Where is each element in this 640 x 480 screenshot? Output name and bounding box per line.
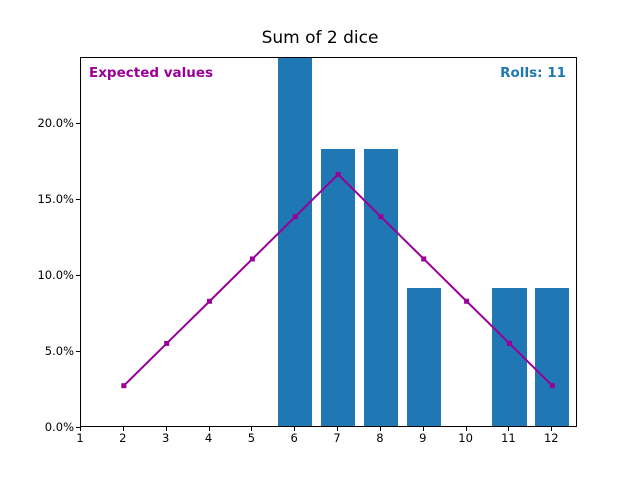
expected-values-line-series	[81, 58, 577, 427]
expected-values-marker	[250, 256, 255, 261]
x-axis-tick-mark	[80, 427, 81, 431]
expected-values-marker	[421, 256, 426, 261]
y-axis-tick-labels: 0.0%5.0%10.0%15.0%20.0%	[0, 0, 74, 480]
x-axis-tick-label: 9	[419, 431, 426, 445]
x-axis-tick-mark	[508, 427, 509, 431]
expected-values-marker	[507, 341, 512, 346]
x-axis-tick-mark	[209, 427, 210, 431]
x-axis-tick-mark	[123, 427, 124, 431]
x-axis-tick-mark	[166, 427, 167, 431]
x-axis-tick-label: 7	[333, 431, 340, 445]
x-axis-tick-mark	[251, 427, 252, 431]
matplotlib-figure: Sum of 2 dice 0.0%5.0%10.0%15.0%20.0% 12…	[0, 0, 640, 480]
page-title: Sum of 2 dice	[0, 28, 640, 48]
x-axis-tick-label: 2	[119, 431, 126, 445]
y-axis-tick-label: 5.0%	[45, 344, 74, 358]
x-axis-tick-label: 10	[458, 431, 473, 445]
y-axis-tick-label: 20.0%	[37, 116, 74, 130]
expected-values-marker	[207, 299, 212, 304]
x-axis-tick-mark	[380, 427, 381, 431]
expected-values-marker	[121, 383, 126, 388]
rolls-count-label: Rolls: 11	[500, 65, 566, 81]
y-axis-tick-label: 10.0%	[37, 268, 74, 282]
x-axis-tick-mark	[294, 427, 295, 431]
y-axis-tick-label: 15.0%	[37, 192, 74, 206]
x-axis-tick-label: 6	[291, 431, 298, 445]
x-axis-tick-mark	[423, 427, 424, 431]
y-axis-tick-label: 0.0%	[45, 420, 74, 434]
x-axis-tick-mark	[551, 427, 552, 431]
expected-values-marker	[336, 172, 341, 177]
x-axis-tick-mark	[466, 427, 467, 431]
legend-expected-values: Expected values	[89, 65, 213, 81]
x-axis-tick-label: 3	[162, 431, 169, 445]
x-axis-tick-label: 12	[544, 431, 559, 445]
x-axis-tick-label: 4	[205, 431, 212, 445]
expected-values-marker	[378, 214, 383, 219]
x-axis-tick-mark	[337, 427, 338, 431]
x-axis-tick-label: 11	[501, 431, 516, 445]
expected-values-marker	[164, 341, 169, 346]
x-axis-tick-label: 8	[376, 431, 383, 445]
plot-area: Expected values Rolls: 11	[80, 57, 577, 427]
x-axis-tick-label: 1	[76, 431, 83, 445]
expected-values-marker	[550, 383, 555, 388]
expected-values-line	[124, 174, 552, 385]
expected-values-marker	[293, 214, 298, 219]
x-axis-tick-label: 5	[248, 431, 255, 445]
expected-values-marker	[464, 299, 469, 304]
